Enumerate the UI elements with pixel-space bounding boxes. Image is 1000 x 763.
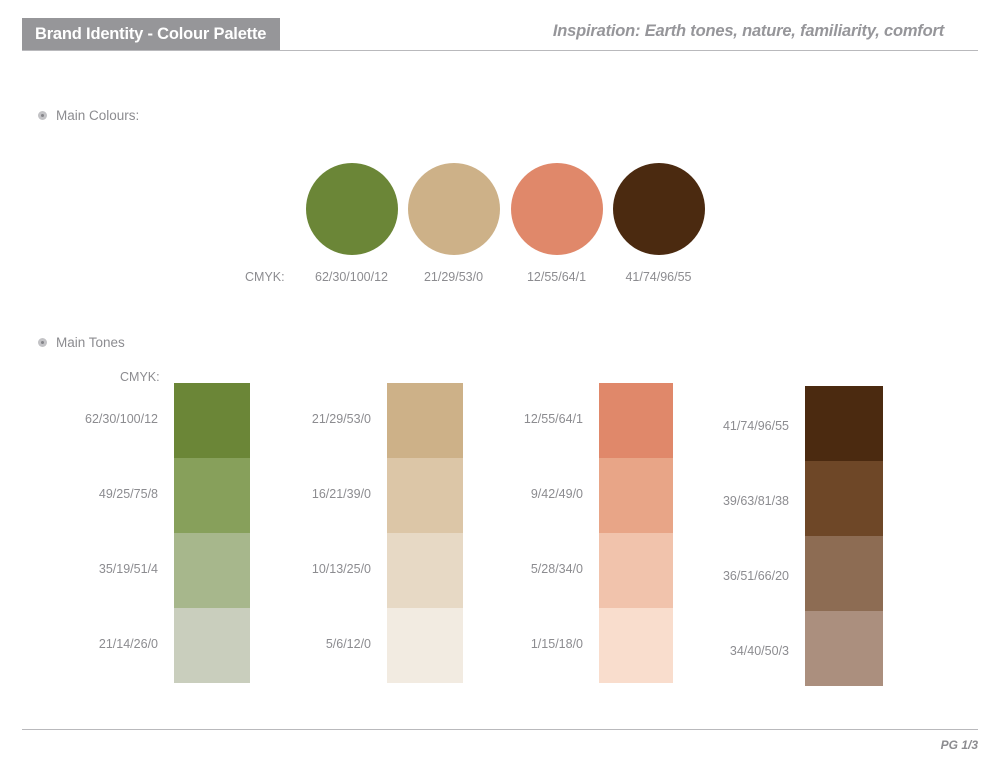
tone-column-tan: 21/29/53/0 16/21/39/0 10/13/25/0 5/6/12/…	[387, 383, 463, 683]
bullet-icon	[38, 338, 47, 347]
tone-swatch[interactable]: 1/15/18/0	[599, 608, 673, 683]
tone-swatch[interactable]: 49/25/75/8	[174, 458, 250, 533]
section-label-main-tones: Main Tones	[56, 335, 125, 350]
tone-column-salmon: 12/55/64/1 9/42/49/0 5/28/34/0 1/15/18/0	[599, 383, 673, 683]
tone-cmyk-label: 1/15/18/0	[531, 638, 583, 651]
page-title: Brand Identity - Colour Palette	[35, 26, 266, 43]
cmyk-row-label: CMYK:	[245, 270, 285, 284]
title-block: Brand Identity - Colour Palette	[22, 18, 280, 50]
tone-cmyk-label: 36/51/66/20	[723, 570, 789, 583]
main-colour-swatch-2[interactable]: 21/29/53/0	[402, 163, 505, 284]
section-heading-main-tones: Main Tones	[38, 335, 125, 350]
tone-cmyk-label: 12/55/64/1	[524, 413, 583, 426]
header-tagline: Inspiration: Earth tones, nature, famili…	[553, 22, 944, 41]
tone-cmyk-label: 34/40/50/3	[730, 645, 789, 658]
colour-circle-tan	[408, 163, 500, 255]
section-heading-main-colours: Main Colours:	[38, 108, 139, 123]
tone-cmyk-label: 16/21/39/0	[312, 488, 371, 501]
colour-circle-olive-green	[306, 163, 398, 255]
colour-circle-dark-brown	[613, 163, 705, 255]
tone-swatch[interactable]: 16/21/39/0	[387, 458, 463, 533]
tone-column-brown: 41/74/96/55 39/63/81/38 36/51/66/20 34/4…	[805, 386, 883, 686]
tone-swatch[interactable]: 5/28/34/0	[599, 533, 673, 608]
tone-swatch[interactable]: 41/74/96/55	[805, 386, 883, 461]
page-number: PG 1/3	[941, 738, 978, 752]
tone-cmyk-label: 10/13/25/0	[312, 563, 371, 576]
tone-cmyk-label: 21/29/53/0	[312, 413, 371, 426]
header-divider	[22, 50, 978, 51]
tone-cmyk-label: 62/30/100/12	[85, 413, 158, 426]
tone-cmyk-label: 5/28/34/0	[531, 563, 583, 576]
colour-cmyk-2: 21/29/53/0	[402, 270, 505, 284]
tone-swatch[interactable]: 21/14/26/0	[174, 608, 250, 683]
main-colour-circles: CMYK: 62/30/100/12 21/29/53/0 12/55/64/1…	[245, 163, 845, 288]
footer-divider	[22, 729, 978, 730]
tone-swatch[interactable]: 62/30/100/12	[174, 383, 250, 458]
page-header: Brand Identity - Colour Palette Inspirat…	[0, 0, 1000, 56]
tones-cmyk-label: CMYK:	[120, 370, 160, 384]
tone-column-green: 62/30/100/12 49/25/75/8 35/19/51/4 21/14…	[174, 383, 250, 683]
tone-cmyk-label: 49/25/75/8	[99, 488, 158, 501]
main-colour-swatch-1[interactable]: 62/30/100/12	[300, 163, 403, 284]
tone-cmyk-label: 35/19/51/4	[99, 563, 158, 576]
tone-swatch[interactable]: 10/13/25/0	[387, 533, 463, 608]
tone-swatch[interactable]: 34/40/50/3	[805, 611, 883, 686]
main-colour-swatch-3[interactable]: 12/55/64/1	[505, 163, 608, 284]
tone-cmyk-label: 9/42/49/0	[531, 488, 583, 501]
tone-swatch[interactable]: 21/29/53/0	[387, 383, 463, 458]
tone-swatch[interactable]: 12/55/64/1	[599, 383, 673, 458]
tone-cmyk-label: 41/74/96/55	[723, 420, 789, 433]
colour-cmyk-4: 41/74/96/55	[607, 270, 710, 284]
main-colour-swatch-4[interactable]: 41/74/96/55	[607, 163, 710, 284]
colour-cmyk-3: 12/55/64/1	[505, 270, 608, 284]
tone-swatch[interactable]: 35/19/51/4	[174, 533, 250, 608]
tone-cmyk-label: 39/63/81/38	[723, 495, 789, 508]
tone-swatch[interactable]: 9/42/49/0	[599, 458, 673, 533]
tone-swatch[interactable]: 39/63/81/38	[805, 461, 883, 536]
colour-circle-salmon	[511, 163, 603, 255]
bullet-icon	[38, 111, 47, 120]
section-label-main-colours: Main Colours:	[56, 108, 139, 123]
tone-swatch[interactable]: 5/6/12/0	[387, 608, 463, 683]
tone-cmyk-label: 21/14/26/0	[99, 638, 158, 651]
tone-cmyk-label: 5/6/12/0	[326, 638, 371, 651]
colour-cmyk-1: 62/30/100/12	[300, 270, 403, 284]
tone-swatch[interactable]: 36/51/66/20	[805, 536, 883, 611]
